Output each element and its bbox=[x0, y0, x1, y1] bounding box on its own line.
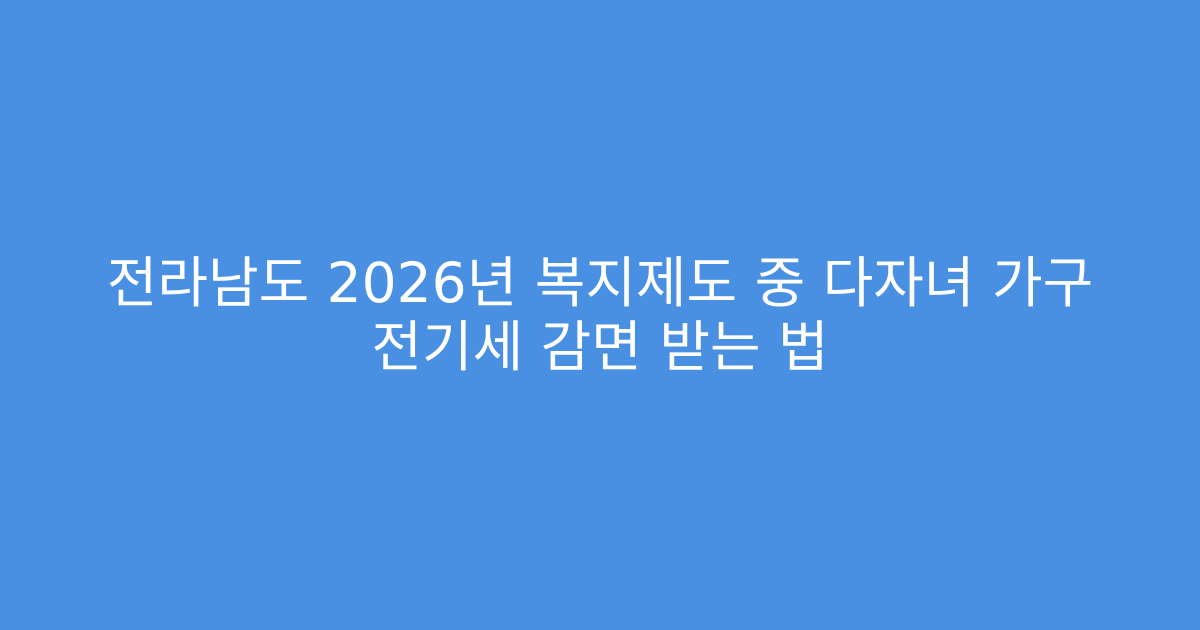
page-title: 전라남도 2026년 복지제도 중 다자녀 가구 전기세 감면 받는 법 bbox=[84, 251, 1116, 379]
title-block: 전라남도 2026년 복지제도 중 다자녀 가구 전기세 감면 받는 법 bbox=[60, 251, 1140, 379]
title-card: 전라남도 2026년 복지제도 중 다자녀 가구 전기세 감면 받는 법 bbox=[0, 0, 1200, 630]
